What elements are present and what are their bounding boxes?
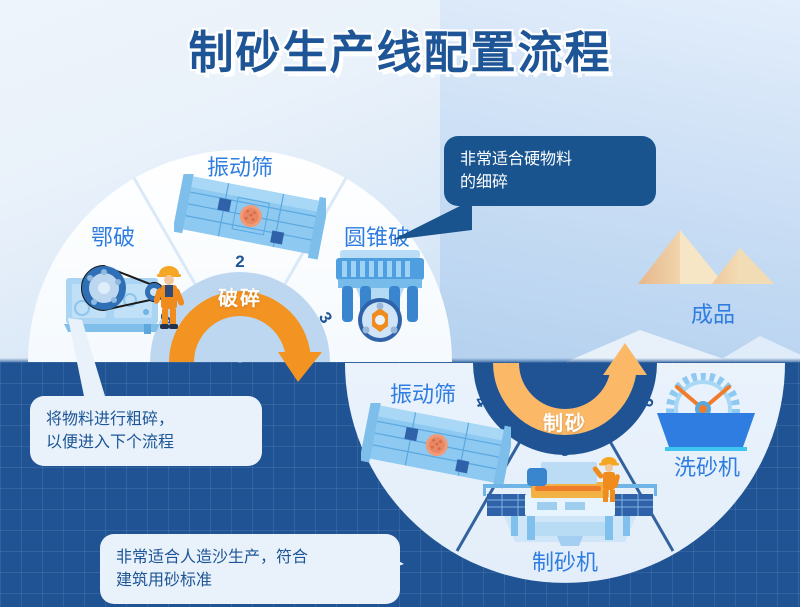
product-label: 成品 [638,297,788,329]
callout-line-1: 的细碎 [460,171,640,194]
callout-cone-crusher-note: 非常适合硬物料 的细碎 [444,136,656,206]
lower-arc-label: 制砂 [525,407,605,436]
callout-line-1: 建筑用砂标准 [116,569,384,592]
callout-jaw-crusher-note: 将物料进行粗碎， 以便进入下个流程 [30,396,262,466]
cone-crusher-icon [326,240,434,344]
infographic-canvas: 制砂生产线配置流程 成品 [0,0,800,607]
callout-line-1: 以便进入下个流程 [46,431,246,454]
callout-line-0: 非常适合人造沙生产，符合 [116,546,384,569]
page-title: 制砂生产线配置流程 [0,16,800,81]
callout-tail-cone [392,200,472,242]
vibrating-screen-icon-upper [174,174,326,266]
callout-tail-jaw [60,318,120,408]
sand-pile-icon [628,222,800,302]
callout-line-0: 非常适合硬物料 [460,148,640,171]
upper-segment-label-0: 鄂破 [58,220,168,252]
sand-making-machine-icon [475,450,665,550]
worker-figure-jaw [154,260,184,332]
upper-arc-label: 破碎 [200,282,280,311]
callout-line-0: 将物料进行粗碎， [46,408,246,431]
callout-sand-maker-note: 非常适合人造沙生产，符合 建筑用砂标准 [100,534,400,604]
sand-washer-icon [641,373,767,459]
lower-wheel: 振动筛 制砂机 洗砂机 4 5 6 制砂 [345,355,785,605]
